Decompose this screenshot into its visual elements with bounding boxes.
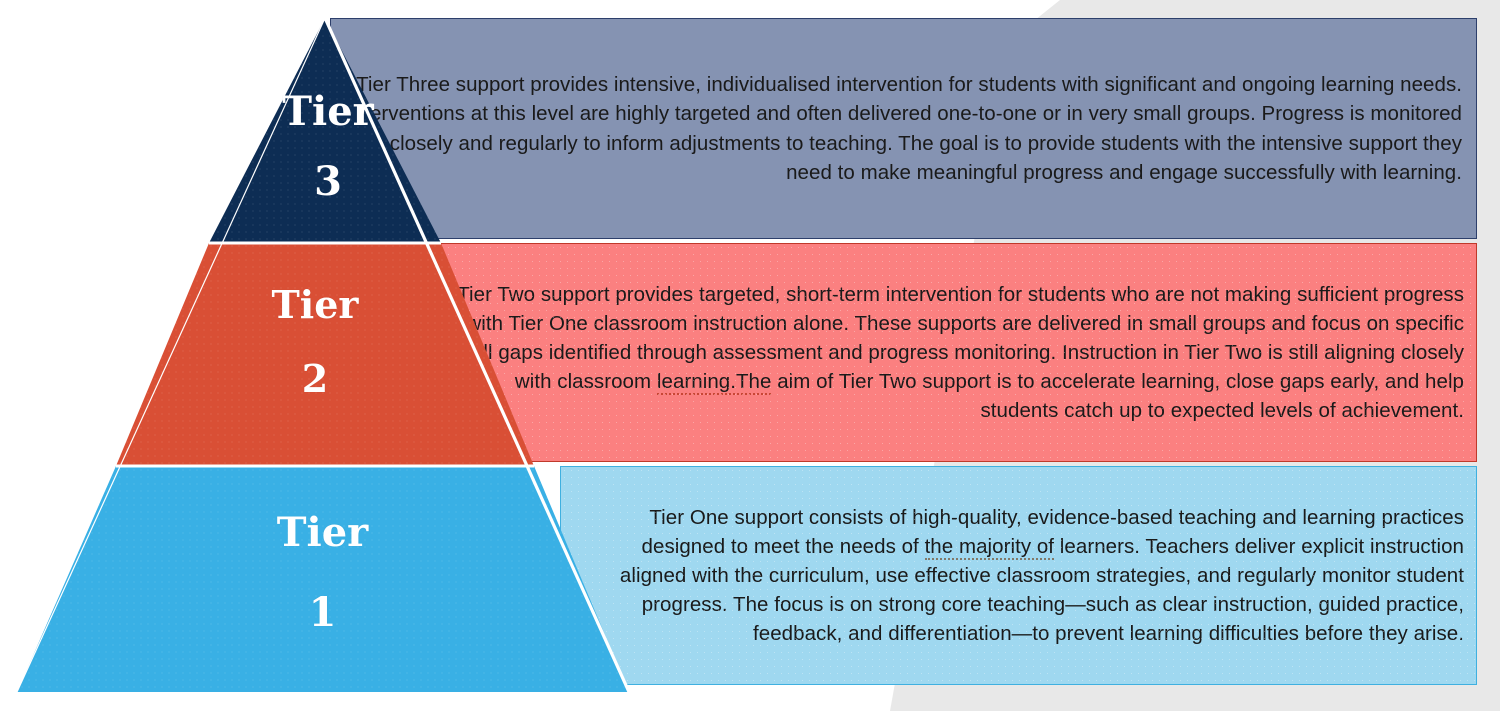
tier-3-label: Tier 3 xyxy=(258,92,398,202)
tier-2-description-panel: Tier Two support provides targeted, shor… xyxy=(430,243,1477,462)
tier-3-label-number: 3 xyxy=(258,162,398,202)
tier-3-description-panel: Tier Three support provides intensive, i… xyxy=(330,18,1477,239)
slide-canvas: Tier Three support provides intensive, i… xyxy=(0,0,1500,711)
tier-1-label-number: 1 xyxy=(245,593,400,633)
tier-1-label: Tier 1 xyxy=(245,513,400,633)
tier-1-description-panel: Tier One support consists of high-qualit… xyxy=(560,466,1477,685)
tier-1-grammar-flagged-phrase: the majority of xyxy=(925,535,1055,560)
tier-2-label: Tier 2 xyxy=(240,286,390,398)
tier-3-description-text: Tier Three support provides intensive, i… xyxy=(331,70,1476,186)
tier-2-label-number: 2 xyxy=(240,360,390,398)
tier-2-text-part-2: aim of Tier Two support is to accelerate… xyxy=(771,370,1464,422)
tier-2-label-word: Tier xyxy=(240,286,390,324)
tier-2-spellcheck-flagged-word: learning.The xyxy=(657,370,772,395)
tier-2-description-text: Tier Two support provides targeted, shor… xyxy=(431,280,1476,426)
tier-3-label-word: Tier xyxy=(258,92,398,132)
tier-1-description-text: Tier One support consists of high-qualit… xyxy=(561,503,1476,649)
tier-1-label-word: Tier xyxy=(245,513,400,553)
